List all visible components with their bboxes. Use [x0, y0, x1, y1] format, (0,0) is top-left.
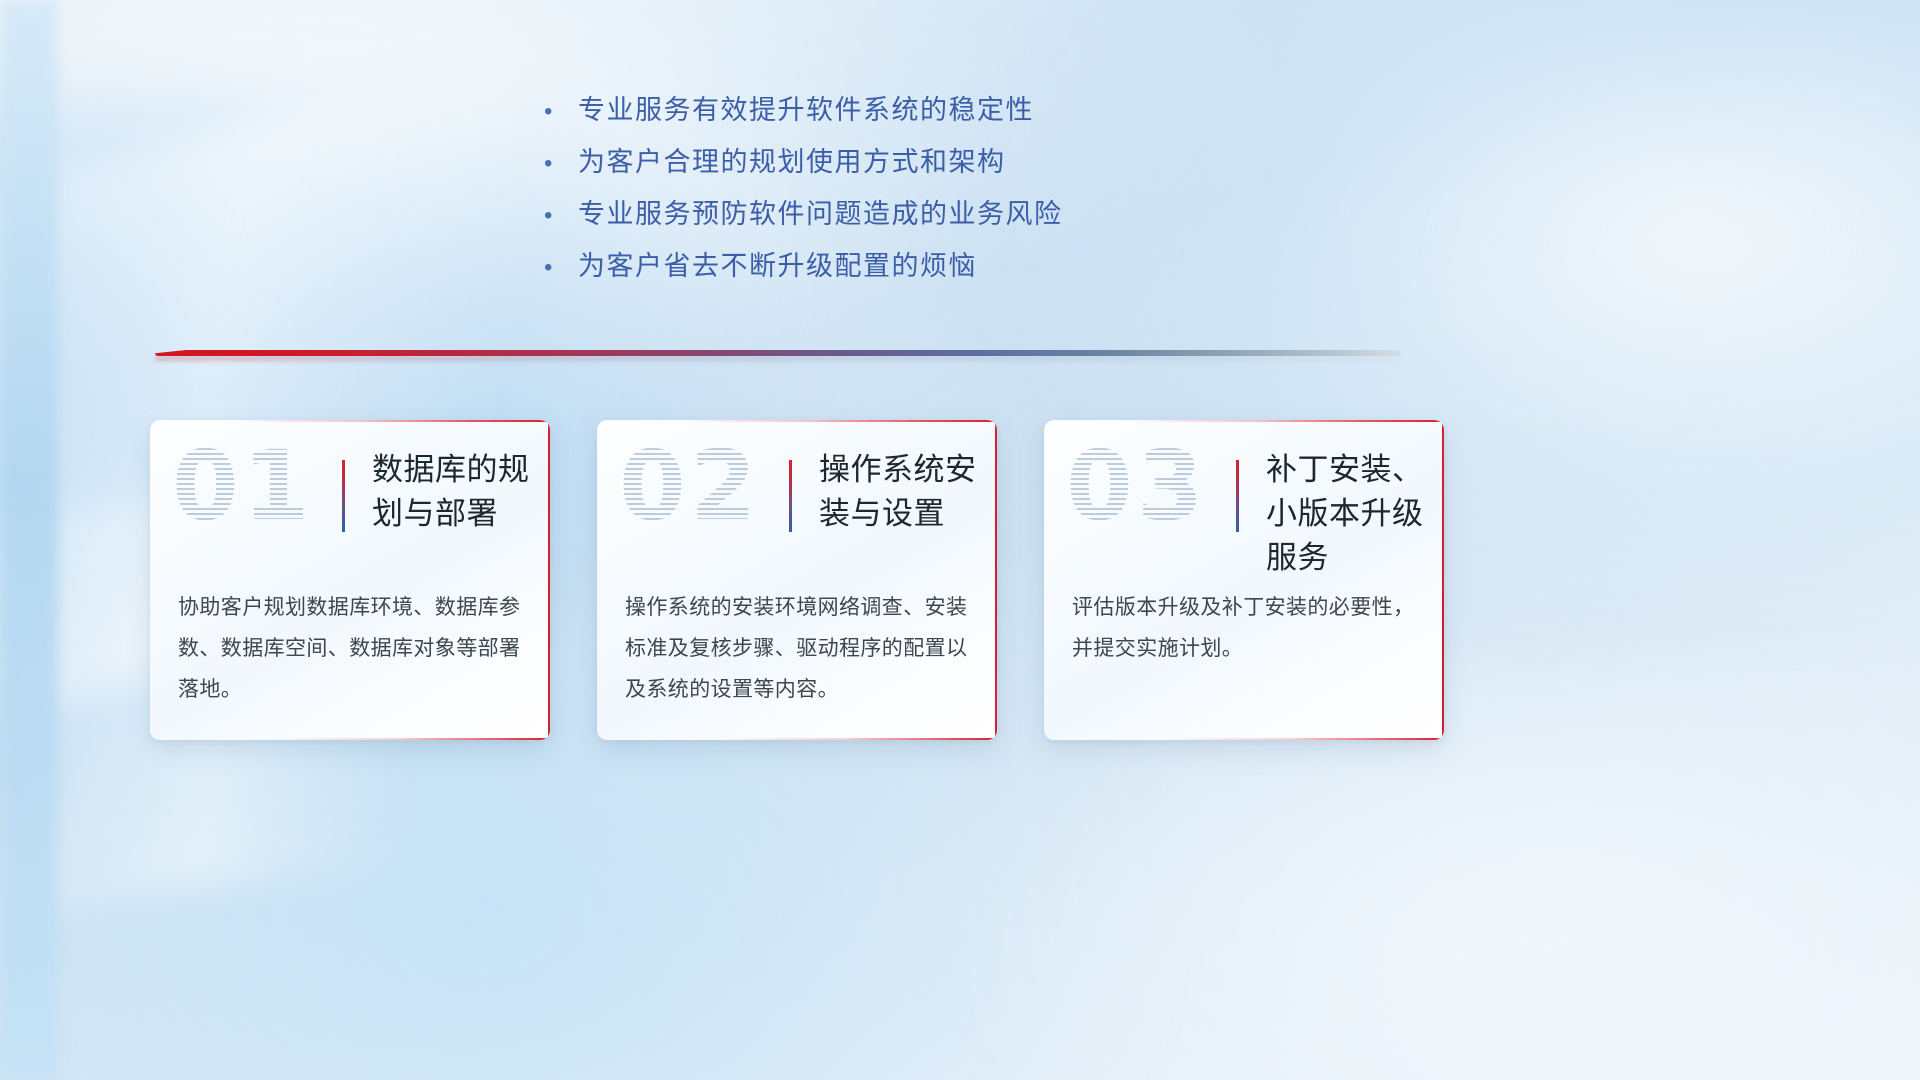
card-bottom-accent: [270, 738, 550, 740]
service-card[interactable]: 02 操作系统安装与设置 操作系统的安装环境网络调查、安装标准及复核步骤、驱动程…: [597, 420, 997, 740]
card-body-text: 操作系统的安装环境网络调查、安装标准及复核步骤、驱动程序的配置以及系统的设置等内…: [625, 588, 971, 711]
card-title: 补丁安装、小版本升级服务: [1266, 448, 1431, 580]
bullet-marker-icon: •: [540, 100, 578, 124]
bullet-marker-icon: •: [540, 256, 578, 280]
card-number-watermark: 03: [1066, 438, 1208, 534]
list-item: • 专业服务预防软件问题造成的业务风险: [540, 192, 1240, 244]
card-number-watermark: 02: [619, 438, 761, 534]
bullet-text: 专业服务预防软件问题造成的业务风险: [578, 192, 1063, 231]
service-card[interactable]: 01 数据库的规划与部署 协助客户规划数据库环境、数据库参数、数据库空间、数据库…: [150, 420, 550, 740]
card-body-text: 协助客户规划数据库环境、数据库参数、数据库空间、数据库对象等部署落地。: [178, 588, 524, 711]
list-item: • 为客户合理的规划使用方式和架构: [540, 140, 1240, 192]
card-title: 数据库的规划与部署: [372, 448, 537, 536]
card-number-watermark: 01: [172, 438, 314, 534]
section-divider: [155, 350, 1400, 362]
background-left-band: [0, 0, 58, 1080]
card-header: 02 操作系统安装与设置: [597, 420, 997, 570]
card-title-divider: [789, 460, 792, 532]
card-header: 01 数据库的规划与部署: [150, 420, 550, 570]
bullet-text: 专业服务有效提升软件系统的稳定性: [578, 88, 1034, 127]
service-card-group: 01 数据库的规划与部署 协助客户规划数据库环境、数据库参数、数据库空间、数据库…: [150, 420, 1444, 740]
list-item: • 为客户省去不断升级配置的烦恼: [540, 244, 1240, 296]
card-title-divider: [1236, 460, 1239, 532]
divider-shadow: [155, 356, 1400, 361]
bullet-text: 为客户合理的规划使用方式和架构: [578, 140, 1006, 179]
card-title-divider: [342, 460, 345, 532]
bullet-marker-icon: •: [540, 152, 578, 176]
bullet-text: 为客户省去不断升级配置的烦恼: [578, 244, 977, 283]
bullet-marker-icon: •: [540, 204, 578, 228]
card-header: 03 补丁安装、小版本升级服务: [1044, 420, 1444, 570]
bullet-list: • 专业服务有效提升软件系统的稳定性 • 为客户合理的规划使用方式和架构 • 专…: [540, 88, 1240, 296]
service-card[interactable]: 03 补丁安装、小版本升级服务 评估版本升级及补丁安装的必要性，并提交实施计划。: [1044, 420, 1444, 740]
card-title: 操作系统安装与设置: [819, 448, 984, 536]
list-item: • 专业服务有效提升软件系统的稳定性: [540, 88, 1240, 140]
card-body-text: 评估版本升级及补丁安装的必要性，并提交实施计划。: [1072, 588, 1418, 670]
card-bottom-accent: [1164, 738, 1444, 740]
card-bottom-accent: [717, 738, 997, 740]
